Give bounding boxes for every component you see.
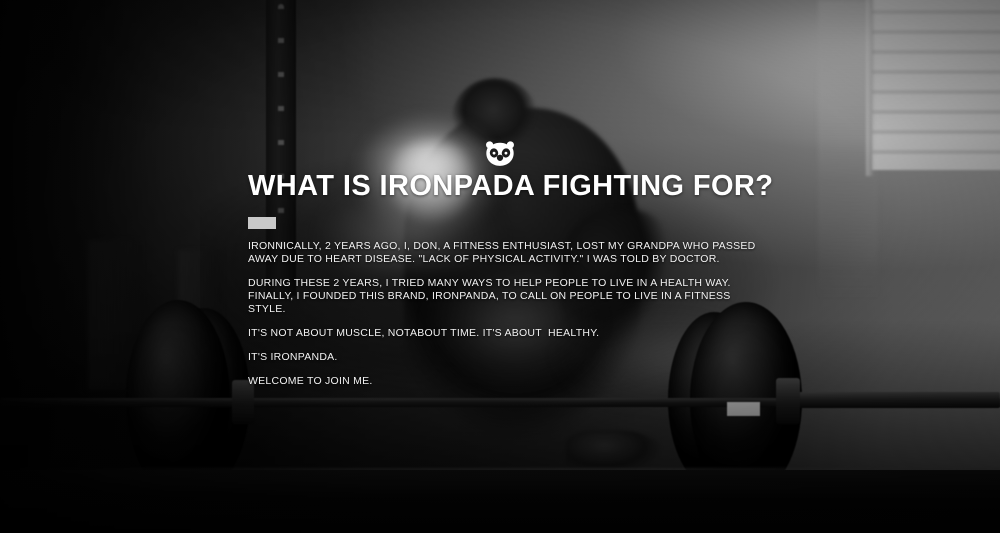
- story-paragraph-4: IT'S IRONPANDA.: [248, 351, 758, 364]
- hero-content: WHAT IS IRONPADA FIGHTING FOR? IRONNICAL…: [248, 0, 788, 533]
- story-paragraph-5: WELCOME TO JOIN ME.: [248, 375, 758, 388]
- accent-divider-bar: [248, 217, 276, 229]
- story-paragraph-2: DURING THESE 2 YEARS, I TRIED MANY WAYS …: [248, 277, 758, 316]
- barbell-sleeve-right: [790, 392, 1000, 408]
- window-frame: [866, 0, 874, 176]
- story-paragraph-1: IRONNICALLY, 2 YEARS AGO, I, DON, A FITN…: [248, 240, 758, 266]
- story-paragraph-3: IT'S NOT ABOUT MUSCLE, NOTABOUT TIME. IT…: [248, 327, 758, 340]
- brand-story-copy: IRONNICALLY, 2 YEARS AGO, I, DON, A FITN…: [248, 240, 758, 388]
- page-title: WHAT IS IRONPADA FIGHTING FOR?: [248, 170, 773, 202]
- panda-head-icon: [482, 136, 518, 172]
- hero-banner: WHAT IS IRONPADA FIGHTING FOR? IRONNICAL…: [0, 0, 1000, 533]
- window-panel: [872, 0, 1000, 170]
